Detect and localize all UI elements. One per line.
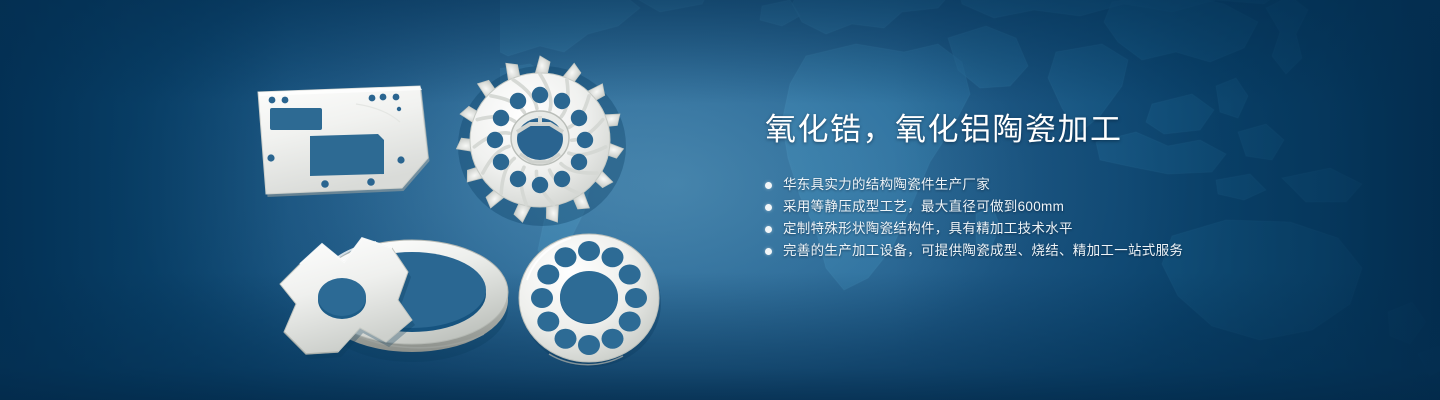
ceramic-cross-part: [280, 238, 415, 359]
feature-text: 采用等静压成型工艺，最大直径可做到600mm: [783, 196, 1064, 218]
feature-text: 华东具实力的结构陶瓷件生产厂家: [783, 174, 990, 196]
feature-list: 华东具实力的结构陶瓷件生产厂家 采用等静压成型工艺，最大直径可做到600mm 定…: [765, 174, 1385, 262]
page-title: 氧化锆，氧化铝陶瓷加工: [765, 110, 1385, 150]
feature-text: 定制特殊形状陶瓷结构件，具有精加工技术水平: [783, 218, 1073, 240]
bullet-dot-icon: [765, 248, 772, 255]
ceramic-perforated-disc: [512, 228, 666, 368]
ceramic-plate: [252, 78, 432, 200]
list-item: 定制特殊形状陶瓷结构件，具有精加工技术水平: [765, 218, 1385, 240]
bullet-dot-icon: [765, 182, 772, 189]
feature-text: 完善的生产加工设备，可提供陶瓷成型、烧结、精加工一站式服务: [783, 240, 1183, 262]
ceramic-cross-and-ring: [252, 228, 520, 364]
hero-banner: 氧化锆，氧化铝陶瓷加工 华东具实力的结构陶瓷件生产厂家 采用等静压成型工艺，最大…: [0, 0, 1440, 400]
list-item: 华东具实力的结构陶瓷件生产厂家: [765, 174, 1385, 196]
bullet-dot-icon: [765, 226, 772, 233]
list-item: 采用等静压成型工艺，最大直径可做到600mm: [765, 196, 1385, 218]
list-item: 完善的生产加工设备，可提供陶瓷成型、烧结、精加工一站式服务: [765, 240, 1385, 262]
product-photo-cluster: [0, 0, 720, 400]
banner-copy: 氧化锆，氧化铝陶瓷加工 华东具实力的结构陶瓷件生产厂家 采用等静压成型工艺，最大…: [765, 110, 1385, 262]
bullet-dot-icon: [765, 204, 772, 211]
ceramic-impeller: [452, 52, 628, 228]
